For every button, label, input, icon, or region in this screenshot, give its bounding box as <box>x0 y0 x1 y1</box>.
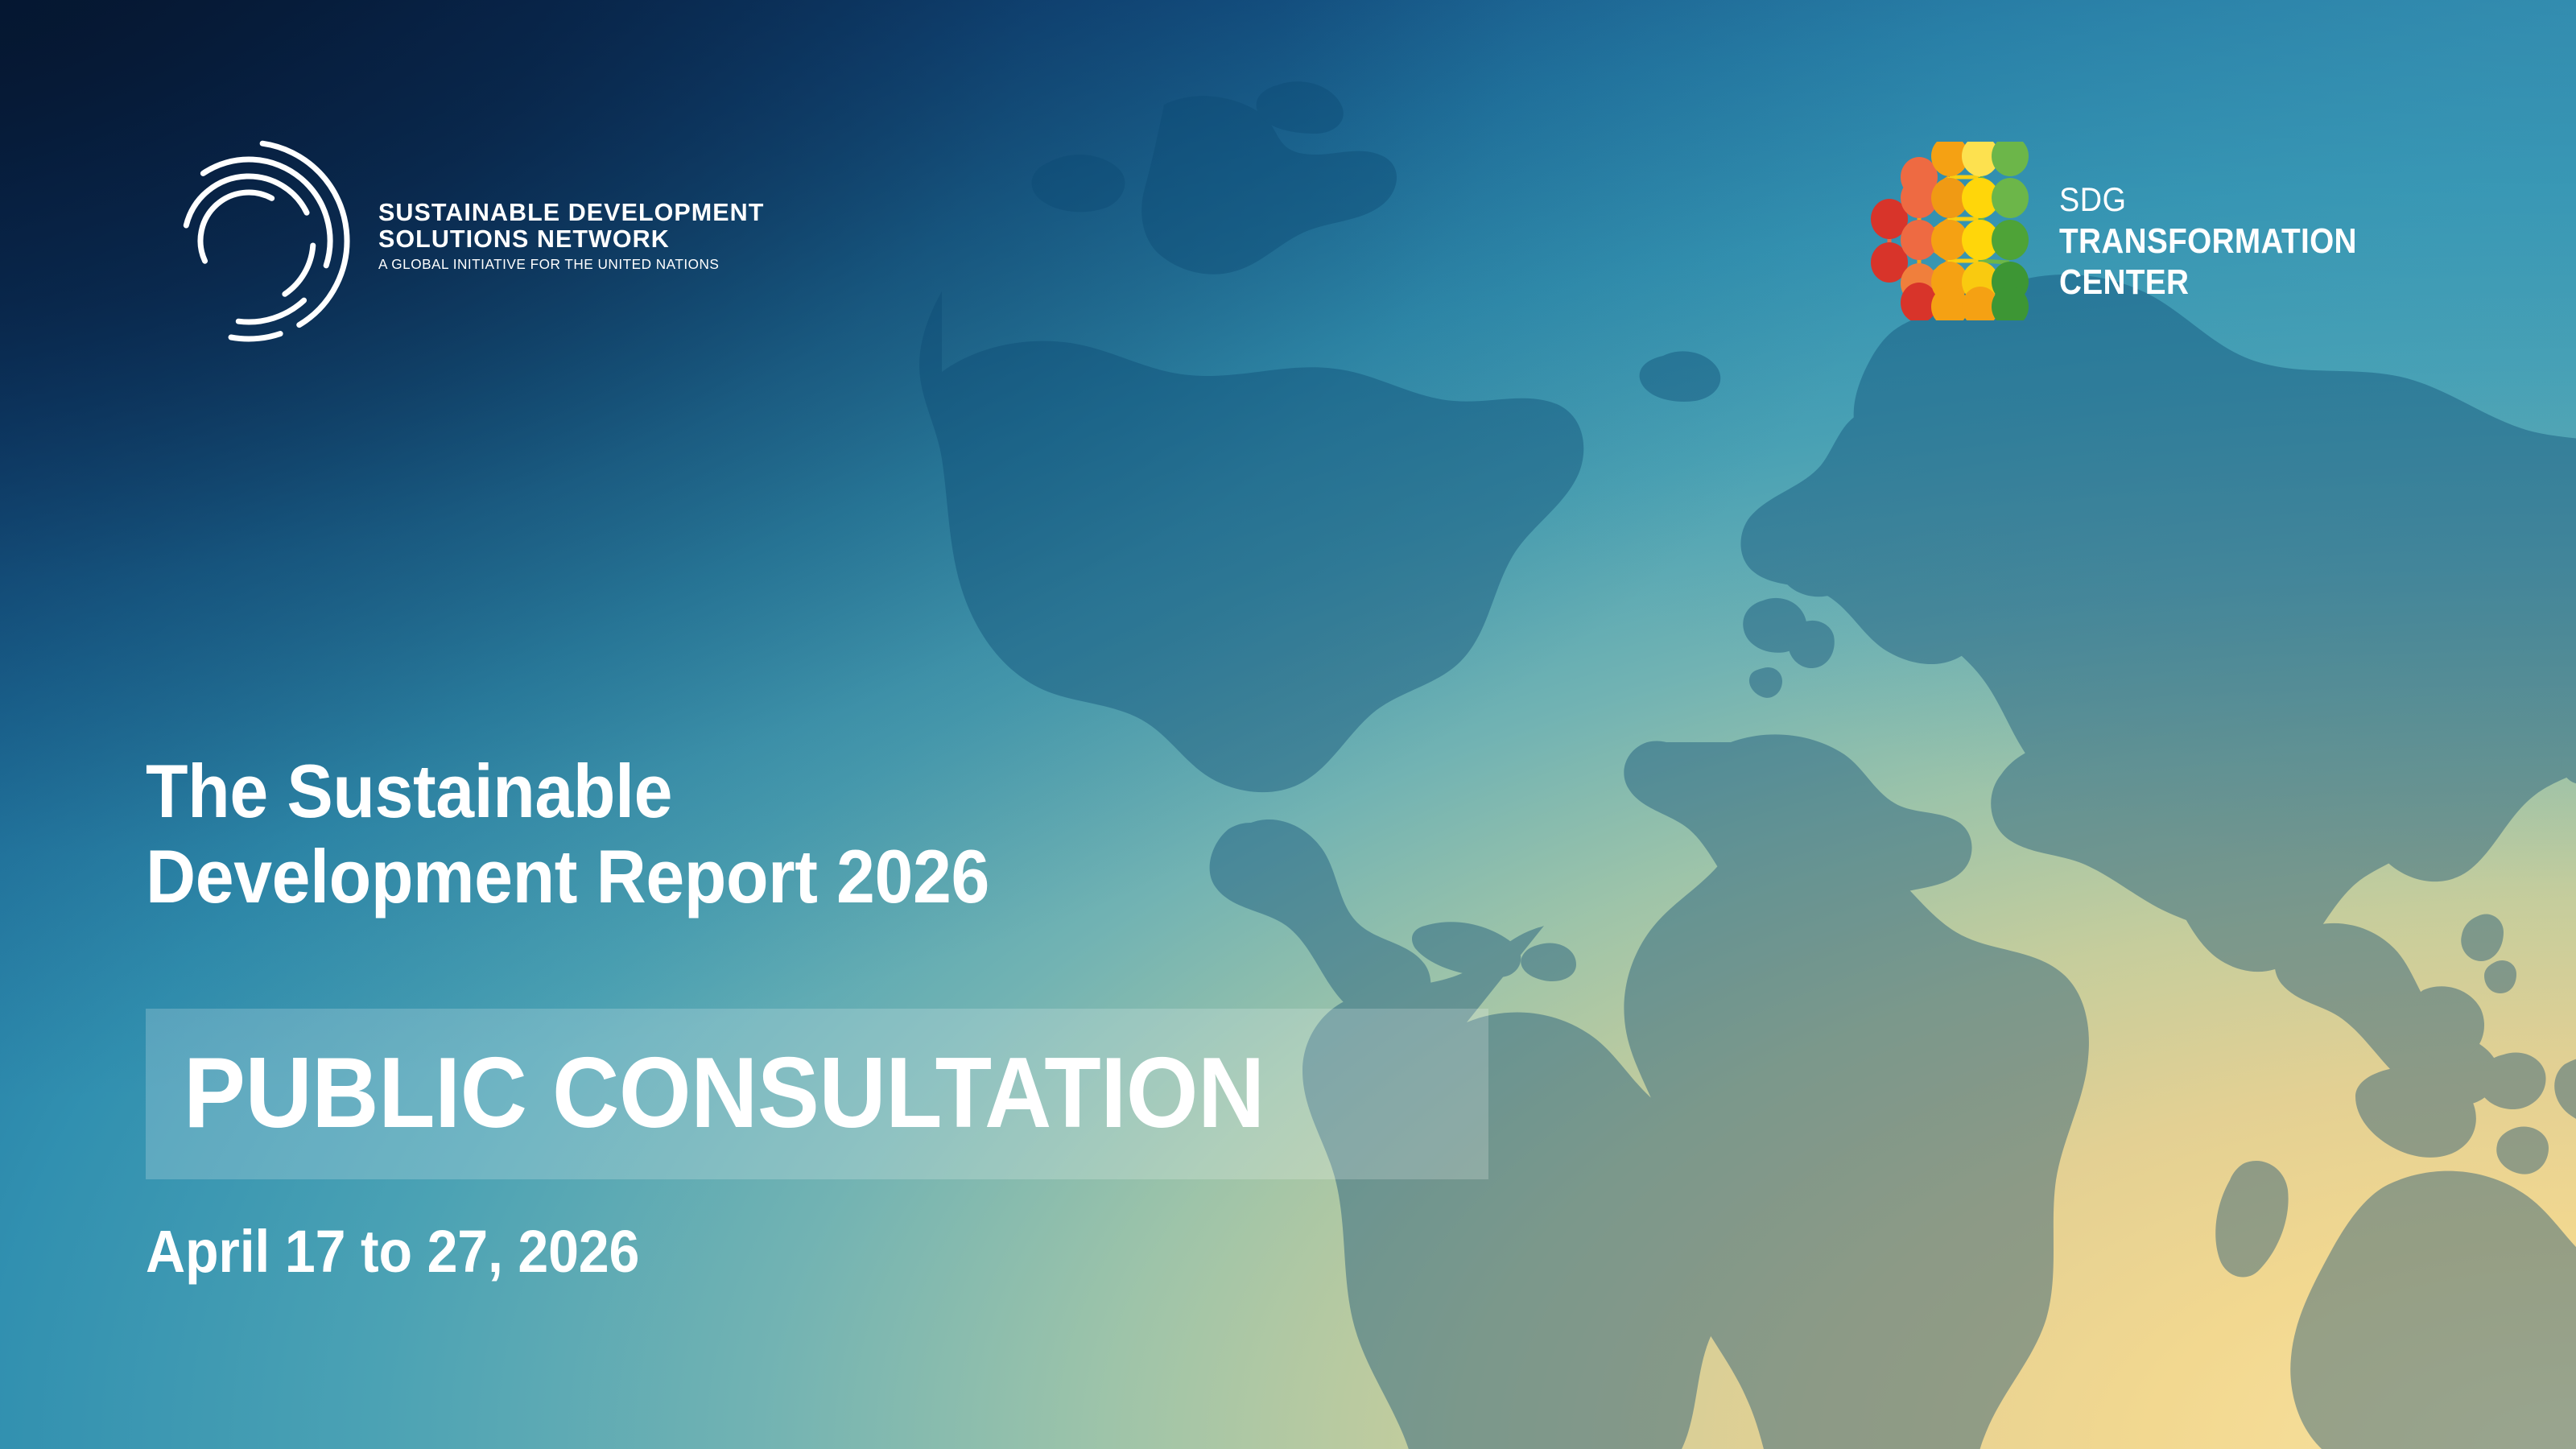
sdgtc-line-1: SDG <box>2059 179 2363 221</box>
sdsn-wordmark: SUSTAINABLE DEVELOPMENT SOLUTIONS NETWOR… <box>378 200 716 276</box>
sdsn-logo: SUSTAINABLE DEVELOPMENT SOLUTIONS NETWOR… <box>143 135 707 361</box>
public-consultation-label: PUBLIC CONSULTATION <box>184 1024 1265 1162</box>
poster-canvas: SUSTAINABLE DEVELOPMENT SOLUTIONS NETWOR… <box>0 0 2576 1449</box>
page-title-line-1: The Sustainable <box>146 749 1546 834</box>
consultation-date-range: April 17 to 27, 2026 <box>146 1216 639 1288</box>
sdgtc-line-2: TRANSFORMATION <box>2059 221 2357 262</box>
page-title-line-2: Development Report 2026 <box>146 834 1546 919</box>
page-title: The Sustainable Development Report 2026 <box>146 749 1675 919</box>
sdsn-tagline: A GLOBAL INITIATIVE FOR THE UNITED NATIO… <box>378 253 716 276</box>
sdsn-line-1: SUSTAINABLE DEVELOPMENT <box>378 200 716 226</box>
hexagonal-dot-network-icon <box>1864 142 2035 320</box>
concentric-broken-rings-icon <box>143 135 354 346</box>
sdgtc-line-3: CENTER <box>2059 262 2357 303</box>
sdg-transformation-center-logo: SDG TRANSFORMATION CENTER <box>1864 142 2508 335</box>
sdg-transformation-center-wordmark: SDG TRANSFORMATION CENTER <box>2059 179 2397 303</box>
sdsn-line-2: SOLUTIONS NETWORK <box>378 226 716 253</box>
